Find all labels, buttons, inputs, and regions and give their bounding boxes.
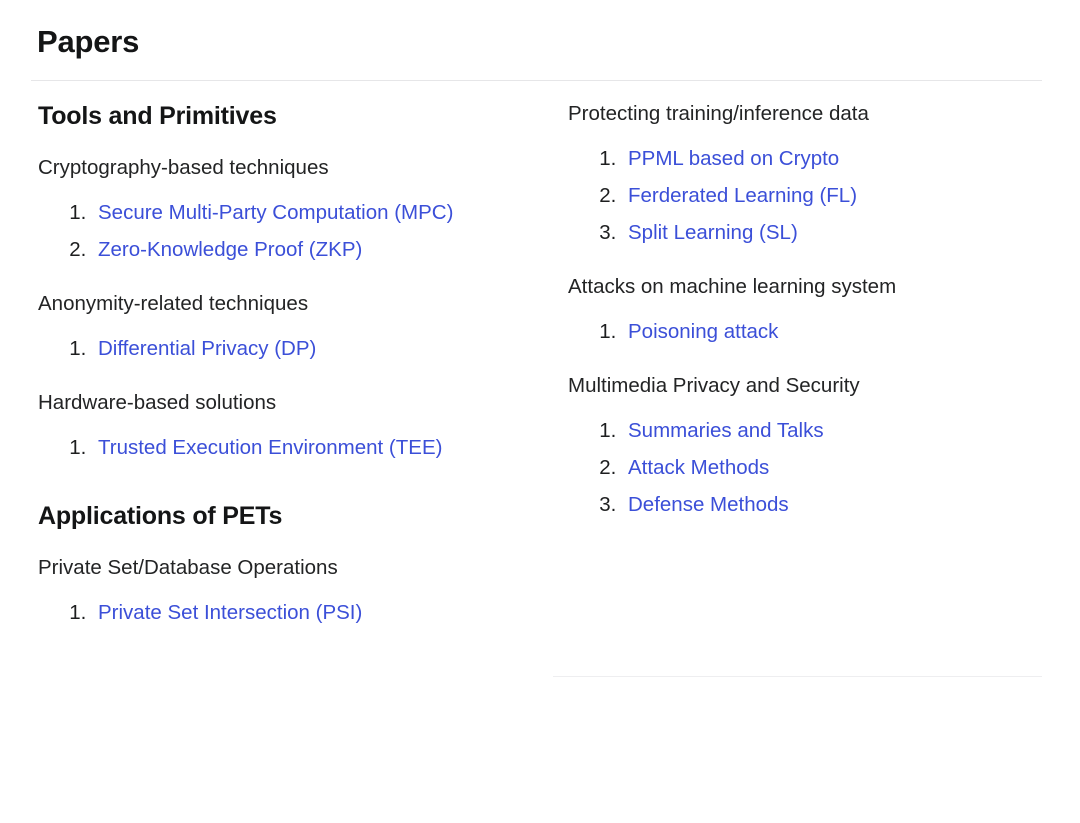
list-item: Private Set Intersection (PSI) [92, 594, 558, 631]
link-summaries-and-talks[interactable]: Summaries and Talks [628, 419, 824, 442]
page-title: Papers [37, 22, 139, 62]
right-column-bottom-divider [553, 676, 1042, 677]
list-item: Summaries and Talks [622, 412, 1048, 449]
link-ppml-based-on-crypto[interactable]: PPML based on Crypto [628, 147, 839, 170]
title-divider [31, 80, 1042, 81]
left-column: Tools and Primitives Cryptography-based … [38, 100, 558, 631]
list-item: Ferderated Learning (FL) [622, 177, 1048, 214]
section-heading-tools-and-primitives: Tools and Primitives [38, 100, 558, 132]
link-list-private-set: Private Set Intersection (PSI) [38, 594, 558, 631]
link-list-protecting-data: PPML based on Crypto Ferderated Learning… [568, 140, 1048, 251]
group-heading-private-set-database-operations: Private Set/Database Operations [38, 554, 558, 582]
list-item: Secure Multi-Party Computation (MPC) [92, 194, 558, 231]
list-item: Attack Methods [622, 449, 1048, 486]
list-item: Zero-Knowledge Proof (ZKP) [92, 231, 558, 268]
list-item: Trusted Execution Environment (TEE) [92, 429, 558, 466]
section-heading-applications-of-pets: Applications of PETs [38, 500, 558, 532]
link-ferderated-learning[interactable]: Ferderated Learning (FL) [628, 184, 857, 207]
list-item: Split Learning (SL) [622, 214, 1048, 251]
list-item: Defense Methods [622, 486, 1048, 523]
link-private-set-intersection[interactable]: Private Set Intersection (PSI) [98, 601, 362, 624]
papers-page: Papers Tools and Primitives Cryptography… [0, 0, 1080, 823]
link-split-learning[interactable]: Split Learning (SL) [628, 221, 798, 244]
link-list-attacks: Poisoning attack [568, 313, 1048, 350]
link-attack-methods[interactable]: Attack Methods [628, 456, 769, 479]
group-heading-anonymity-related-techniques: Anonymity-related techniques [38, 290, 558, 318]
link-defense-methods[interactable]: Defense Methods [628, 493, 789, 516]
group-heading-attacks-on-machine-learning-system: Attacks on machine learning system [568, 273, 1048, 301]
group-heading-hardware-based-solutions: Hardware-based solutions [38, 389, 558, 417]
link-zero-knowledge-proof[interactable]: Zero-Knowledge Proof (ZKP) [98, 238, 362, 261]
link-differential-privacy[interactable]: Differential Privacy (DP) [98, 337, 316, 360]
group-heading-cryptography-based-techniques: Cryptography-based techniques [38, 154, 558, 182]
link-poisoning-attack[interactable]: Poisoning attack [628, 320, 778, 343]
link-list-cryptography: Secure Multi-Party Computation (MPC) Zer… [38, 194, 558, 268]
link-trusted-execution-environment[interactable]: Trusted Execution Environment (TEE) [98, 436, 442, 459]
link-list-multimedia: Summaries and Talks Attack Methods Defen… [568, 412, 1048, 523]
list-item: Poisoning attack [622, 313, 1048, 350]
link-list-hardware: Trusted Execution Environment (TEE) [38, 429, 558, 466]
list-item: PPML based on Crypto [622, 140, 1048, 177]
right-column: Protecting training/inference data PPML … [568, 100, 1048, 523]
group-heading-protecting-training-inference-data: Protecting training/inference data [568, 100, 1048, 128]
group-heading-multimedia-privacy-and-security: Multimedia Privacy and Security [568, 372, 1048, 400]
link-list-anonymity: Differential Privacy (DP) [38, 330, 558, 367]
list-item: Differential Privacy (DP) [92, 330, 558, 367]
link-secure-multi-party-computation[interactable]: Secure Multi-Party Computation (MPC) [98, 201, 453, 224]
